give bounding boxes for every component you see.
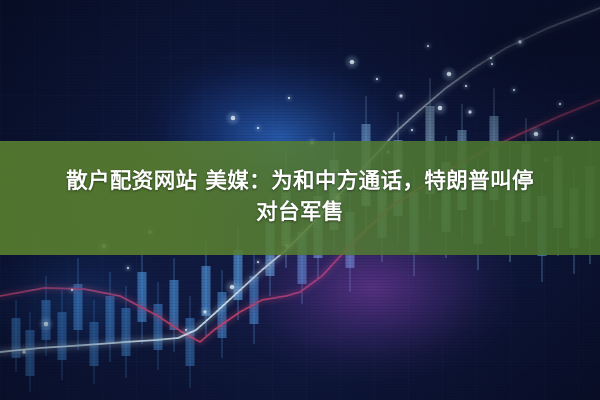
- page-title: 散户配资网站 美媒：为和中方通话，特朗普叫停 对台军售: [16, 167, 584, 228]
- news-banner-image: 散户配资网站 美媒：为和中方通话，特朗普叫停 对台军售: [0, 0, 600, 400]
- headline-line-1: 散户配资网站 美媒：为和中方通话，特朗普叫停: [66, 169, 534, 194]
- headline-line-2: 对台军售: [16, 198, 584, 229]
- headline-band: 散户配资网站 美媒：为和中方通话，特朗普叫停 对台军售: [0, 141, 600, 255]
